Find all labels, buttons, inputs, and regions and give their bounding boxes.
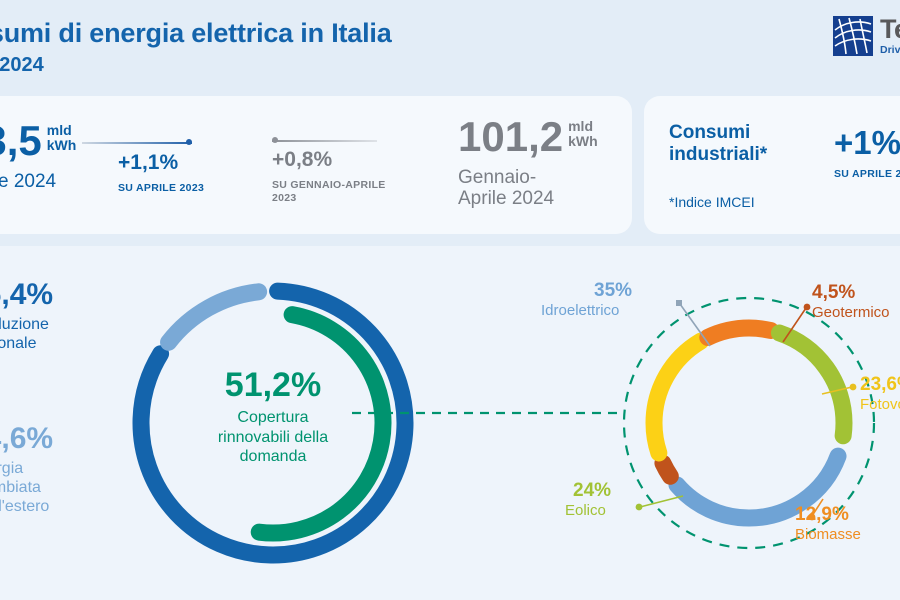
mix-label-biomasse-pct: 12,9%	[795, 504, 861, 526]
side-stat-exchange-value: 14,6%	[0, 424, 53, 454]
kpi-cumulative-unit-top: mld	[568, 119, 598, 134]
kpi-cumulative-value: 101,2	[458, 113, 563, 160]
kpi-industrial-delta-note: SU APRILE 2023	[834, 168, 900, 180]
terna-logo-text: Terna Driving Energy	[880, 16, 900, 56]
mix-label-biomasse: 12,9% Biomasse	[795, 504, 861, 544]
renewable-coverage-label-3: domanda	[168, 447, 378, 467]
mix-label-geotermico: 4,5% Geotermico	[812, 282, 890, 322]
side-stat-exchange-label-3: con l'estero	[0, 497, 53, 516]
kpi-monthly-delta-note: SU APRILE 2023	[118, 182, 204, 195]
kpi-cumulative-value-row: 101,2 mld kWh	[458, 116, 598, 158]
mix-label-fotovoltaico-pct: 23,6%	[860, 374, 900, 396]
kpi-monthly: 23,5 mld kWh Aprile 2024	[0, 120, 76, 192]
donut-chart-renewable-coverage: 51,2% Copertura rinnovabili della domand…	[118, 268, 428, 578]
side-stat-exchange-label-2: scambiata	[0, 478, 53, 497]
kpi-cumulative-arrow-icon	[272, 136, 377, 146]
side-stat-production-label-1: Produzione	[0, 315, 53, 334]
kpi-cumulative: 101,2 mld kWh Gennaio- Aprile 2024	[458, 116, 598, 210]
kpi-monthly-value: 23,5	[0, 117, 42, 164]
kpi-card-consumption: 23,5 mld kWh Aprile 2024 +1,1% SU APRILE…	[0, 96, 632, 234]
kpi-monthly-arrow-icon	[82, 138, 192, 148]
kpi-monthly-period: Aprile 2024	[0, 171, 76, 192]
charts-panel: 85,4% Produzione nazionale 14,6% Energia…	[0, 246, 900, 600]
kpi-industrial-label: Consumi industriali*	[669, 122, 767, 167]
kpi-monthly-unit-bottom: kWh	[47, 138, 77, 153]
kpi-cumulative-delta-note: SU GENNAIO-APRILE 2023	[272, 179, 392, 205]
infographic-page: Consumi di energia elettrica in Italia A…	[0, 0, 900, 600]
side-stat-production-label-2: nazionale	[0, 334, 53, 353]
renewable-coverage-value: 51,2%	[168, 368, 378, 402]
side-stat-production-value: 85,4%	[0, 280, 53, 310]
renewable-coverage-label: Copertura rinnovabili della domanda	[168, 408, 378, 467]
mix-label-geotermico-pct: 4,5%	[812, 282, 890, 304]
kpi-monthly-unit-top: mld	[47, 123, 77, 138]
kpi-monthly-delta: +1,1%	[118, 151, 204, 175]
side-stat-production: 85,4% Produzione nazionale	[0, 280, 53, 353]
kpi-card-industrial: Consumi industriali* *Indice IMCEI +1% S…	[644, 96, 900, 234]
renewable-coverage-label-2: rinnovabili della	[168, 428, 378, 448]
kpi-cumulative-unit: mld kWh	[568, 119, 598, 148]
kpi-strip: 23,5 mld kWh Aprile 2024 +1,1% SU APRILE…	[0, 96, 900, 236]
kpi-cumulative-unit-bottom: kWh	[568, 134, 598, 149]
mix-label-fotovoltaico-name: Fotovoltaico	[860, 396, 900, 414]
donut-center-label: 51,2% Copertura rinnovabili della domand…	[168, 368, 378, 467]
side-stat-exchange: 14,6% Energia scambiata con l'estero	[0, 424, 53, 517]
renewable-coverage-label-1: Copertura	[168, 408, 378, 428]
kpi-industrial-label-1: Consumi	[669, 122, 767, 144]
kpi-industrial-label-2: industriali*	[669, 144, 767, 166]
kpi-monthly-value-row: 23,5 mld kWh	[0, 120, 76, 162]
page-subtitle: Aprile 2024	[0, 54, 44, 77]
kpi-cumulative-delta: +0,8%	[272, 148, 392, 172]
kpi-industrial-note: *Indice IMCEI	[669, 194, 755, 210]
mix-label-idroelettrico-pct: 35%	[594, 280, 632, 302]
terna-logo-name: Terna	[880, 16, 900, 43]
mix-label-idroelettrico-name: Idroelettrico	[541, 302, 632, 320]
mix-label-idroelettrico: 35% Idroelettrico	[541, 280, 632, 320]
kpi-monthly-unit: mld kWh	[47, 123, 77, 152]
kpi-monthly-delta-group: +1,1% SU APRILE 2023	[118, 151, 204, 195]
mix-label-geotermico-name: Geotermico	[812, 304, 890, 322]
header: Consumi di energia elettrica in Italia A…	[0, 0, 900, 92]
page-title: Consumi di energia elettrica in Italia	[0, 18, 392, 49]
kpi-industrial-delta: +1%	[834, 124, 900, 162]
terna-logo-tagline: Driving Energy	[880, 45, 900, 56]
mix-label-eolico-pct: 24%	[573, 480, 611, 502]
donut-connector-line	[352, 406, 622, 420]
mix-label-eolico: 24% Eolico	[565, 480, 611, 520]
terna-logo: Terna Driving Energy	[833, 16, 900, 56]
kpi-cumulative-delta-group: +0,8% SU GENNAIO-APRILE 2023	[272, 148, 392, 205]
mix-label-eolico-name: Eolico	[565, 502, 611, 520]
terna-grid-logo-icon	[833, 16, 873, 56]
kpi-cumulative-period-2: Aprile 2024	[458, 188, 598, 209]
kpi-cumulative-period-1: Gennaio-	[458, 167, 598, 188]
mix-label-biomasse-name: Biomasse	[795, 526, 861, 544]
side-stat-exchange-label-1: Energia	[0, 459, 53, 478]
mix-label-fotovoltaico: 23,6% Fotovoltaico	[860, 374, 900, 414]
